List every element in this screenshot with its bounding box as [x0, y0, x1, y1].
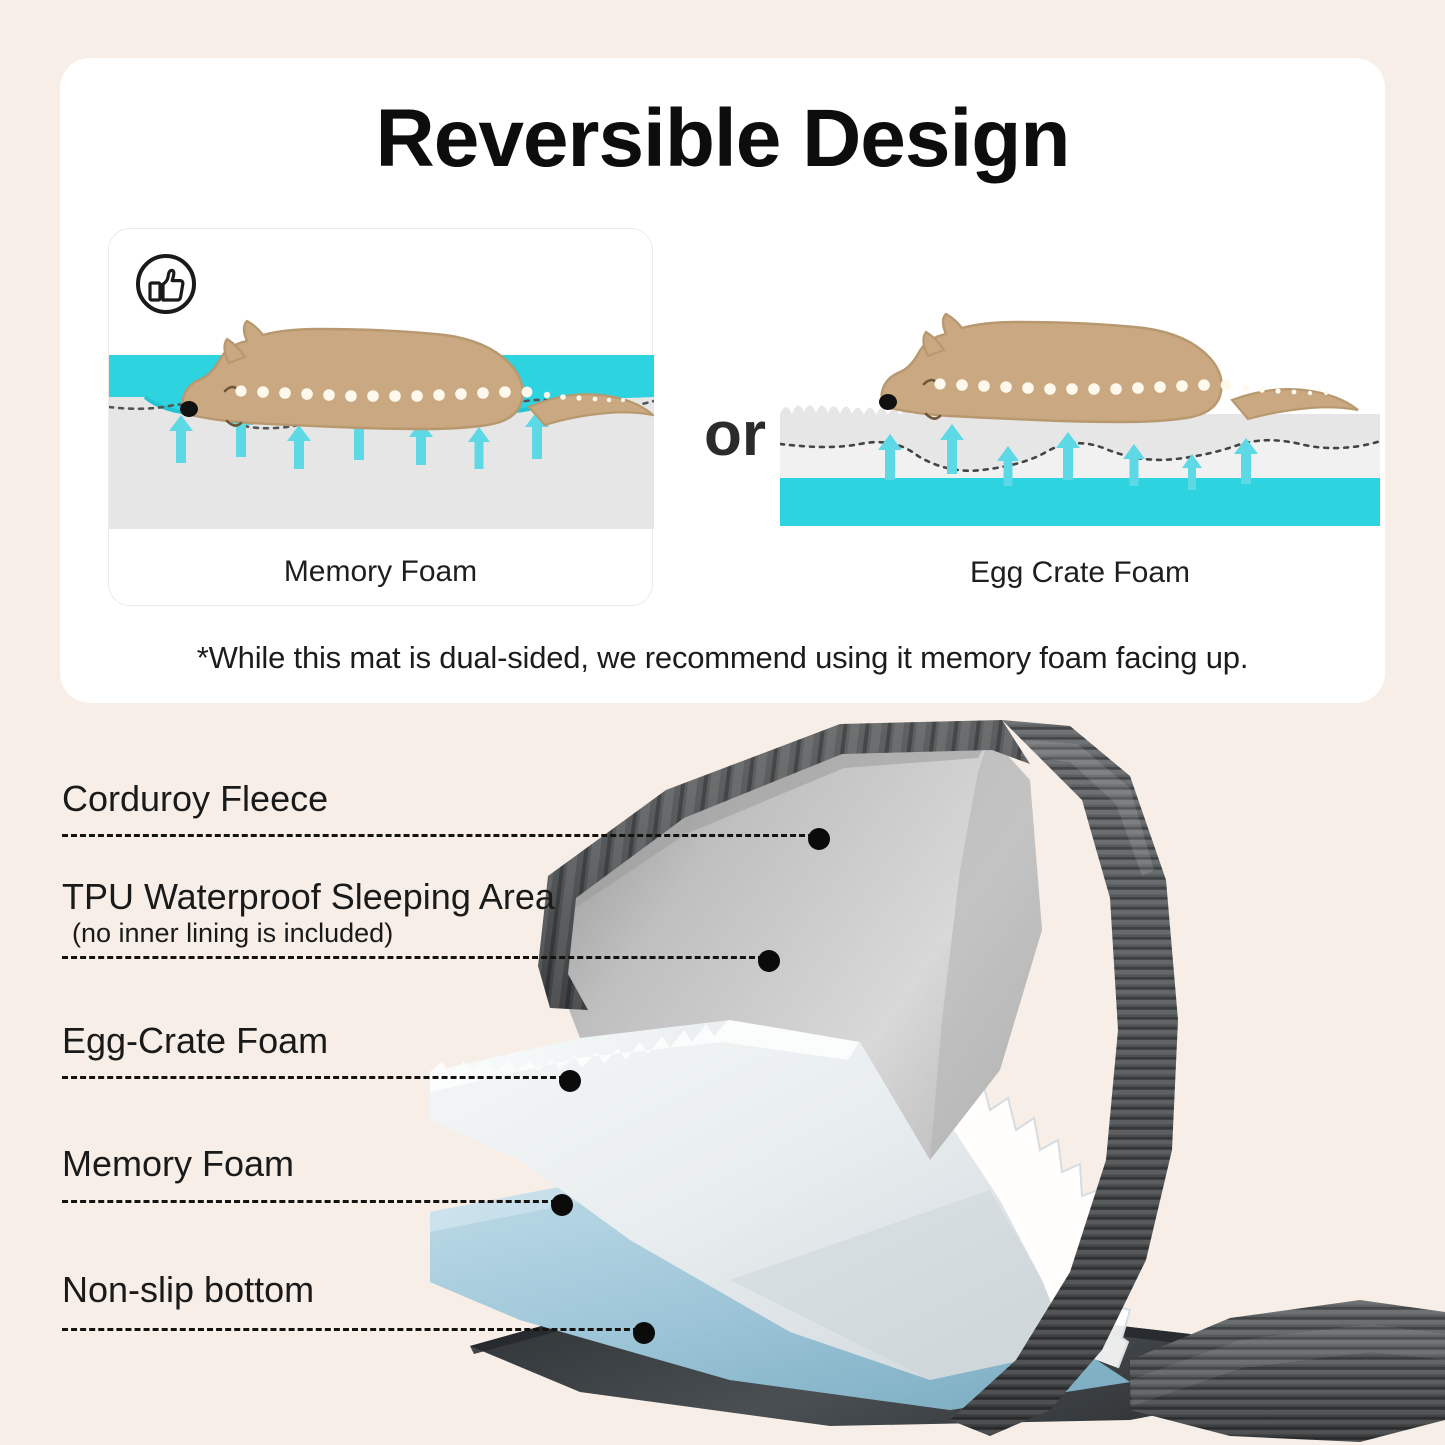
- or-separator: or: [680, 404, 790, 466]
- leader-line-memory-foam: [62, 1200, 557, 1203]
- feature-non-slip-bottom: Non-slip bottom: [62, 1269, 314, 1311]
- footnote-text: *While this mat is dual-sided, we recomm…: [60, 640, 1385, 676]
- reversible-design-card: Reversible Design: [60, 58, 1385, 703]
- leader-dot: [808, 828, 830, 850]
- feature-label: Non-slip bottom: [62, 1269, 314, 1311]
- feature-label: TPU Waterproof Sleeping Area: [62, 876, 555, 918]
- leader-line-tpu-waterproof: [62, 956, 764, 959]
- leader-dot: [758, 950, 780, 972]
- feature-sublabel: (no inner lining is included): [62, 918, 555, 949]
- memory-foam-illustration: [109, 229, 654, 529]
- feature-label: Corduroy Fleece: [62, 778, 328, 820]
- feature-label: Memory Foam: [62, 1143, 294, 1185]
- egg-crate-illustration: [780, 248, 1380, 548]
- leader-dot: [551, 1194, 573, 1216]
- page-title: Reversible Design: [60, 98, 1385, 180]
- dog-illustration: [879, 314, 1358, 422]
- product-layers-illustration: [430, 720, 1445, 1445]
- leader-dot: [633, 1322, 655, 1344]
- panel-egg-crate-foam: Egg Crate Foam: [780, 228, 1380, 606]
- feature-tpu-waterproof: TPU Waterproof Sleeping Area (no inner l…: [62, 876, 555, 949]
- panel-label-memory-foam: Memory Foam: [109, 555, 652, 589]
- leader-line-egg-crate-foam: [62, 1076, 565, 1079]
- feature-label: Egg-Crate Foam: [62, 1020, 328, 1062]
- panel-label-egg-crate-foam: Egg Crate Foam: [780, 556, 1380, 590]
- leader-line-non-slip-bottom: [62, 1328, 639, 1331]
- feature-corduroy-fleece: Corduroy Fleece: [62, 778, 328, 820]
- leader-dot: [559, 1070, 581, 1092]
- panel-memory-foam: Memory Foam: [108, 228, 653, 606]
- leader-line-corduroy-fleece: [62, 834, 814, 837]
- feature-egg-crate-foam: Egg-Crate Foam: [62, 1020, 328, 1062]
- feature-memory-foam: Memory Foam: [62, 1143, 294, 1185]
